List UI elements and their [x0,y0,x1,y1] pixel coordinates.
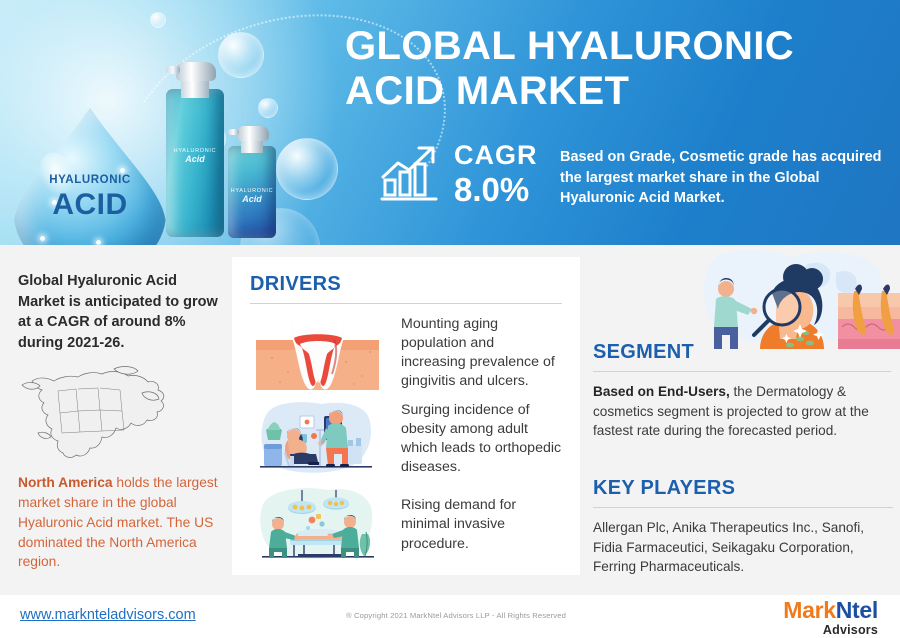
logo-subtitle: Advisors [783,624,878,637]
grade-insight-note: Based on Grade, Cosmetic grade has acqui… [560,147,890,209]
bottle-label-line2: Acid [228,194,276,204]
cosmetic-bottle-large-icon: HYALURONIC Acid [166,62,224,237]
key-players-block: KEY PLAYERS Allergan Plc, Anika Therapeu… [593,477,893,577]
bar-chart-growth-icon [378,143,440,205]
left-column: Global Hyaluronic Acid Market is anticip… [18,271,218,353]
driver-item: Surging incidence of obesity among adult… [250,400,562,478]
segment-block: SEGMENT Based on End-Users, the Dermatol… [593,341,891,441]
infographic-page: HYALURONIC ACID HYALURONIC Acid HYALURON… [0,0,900,638]
sparkle-icon [40,236,45,241]
bottle-label-line2: Acid [166,154,224,164]
cagr-value: 8.0% [454,173,538,206]
bottle-pump-spout [166,66,180,74]
logo-ntel-text: Ntel [836,597,878,623]
drivers-heading: DRIVERS [250,273,562,296]
logo-wordmark: MarkNtel [783,599,878,622]
logo-mark-text: Mark [783,597,836,623]
bottle-pump-spout [228,129,239,135]
drivers-card: DRIVERS [232,257,580,575]
driver-text: Surging incidence of obesity among adult… [401,401,562,477]
cosmetic-bottle-small-icon: HYALURONIC Acid [228,126,276,238]
website-link[interactable]: www.marknteladvisors.com [20,607,196,623]
section-divider [593,507,893,508]
segment-body-bold: Based on End-Users, [593,384,730,399]
hero-banner: HYALURONIC ACID HYALURONIC Acid HYALURON… [0,0,900,245]
footer: www.marknteladvisors.com ® Copyright 202… [0,595,900,638]
market-intro-text: Global Hyaluronic Acid Market is anticip… [18,271,218,353]
north-america-insight-text: North America holds the largest market s… [18,473,223,572]
segment-heading: SEGMENT [593,341,891,364]
segment-body: Based on End-Users, the Dermatology & co… [593,382,891,441]
bottle-label: HYALURONIC Acid [166,148,224,165]
drivers-inner: DRIVERS [232,257,580,564]
droplet-label: HYALURONIC ACID [14,175,166,220]
bubble-decoration [150,12,166,28]
content-area: Global Hyaluronic Acid Market is anticip… [0,245,900,595]
tooth-gingivitis-icon [250,314,385,392]
cagr-group: CAGR 8.0% [378,142,538,206]
patient-crutches-consult-icon [250,400,385,478]
driver-text: Rising demand for minimal invasive proce… [401,496,562,553]
bottle-pump-cap [176,62,216,81]
sparkle-icon [120,168,125,173]
brand-logo: MarkNtel Advisors [783,599,878,637]
drivers-list: Mounting aging population and increasing… [250,314,562,564]
key-players-body: Allergan Plc, Anika Therapeutics Inc., S… [593,518,893,577]
driver-text: Mounting aging population and increasing… [401,315,562,391]
key-players-heading: KEY PLAYERS [593,477,893,500]
cagr-label: CAGR [454,142,538,169]
bottle-pump-cap [237,126,269,141]
driver-item: Mounting aging population and increasing… [250,314,562,392]
cagr-text: CAGR 8.0% [454,142,538,206]
section-divider [593,371,891,372]
region-highlight: North America [18,475,113,490]
bottle-label: HYALURONIC Acid [228,188,276,205]
section-divider [250,303,562,304]
driver-item: Rising demand for minimal invasive proce… [250,486,562,564]
page-title: GLOBAL HYALURONIC ACID MARKET [345,24,890,114]
surgery-operating-room-icon [250,486,385,564]
copyright-text: ® Copyright 2021 MarkNtel Advisors LLP -… [346,611,566,620]
dermatology-skin-analysis-icon [686,247,900,349]
bottle-neck [181,78,209,98]
droplet-label-small: HYALURONIC [14,175,166,187]
north-america-map-icon [18,363,203,463]
droplet-label-big: ACID [14,190,166,220]
